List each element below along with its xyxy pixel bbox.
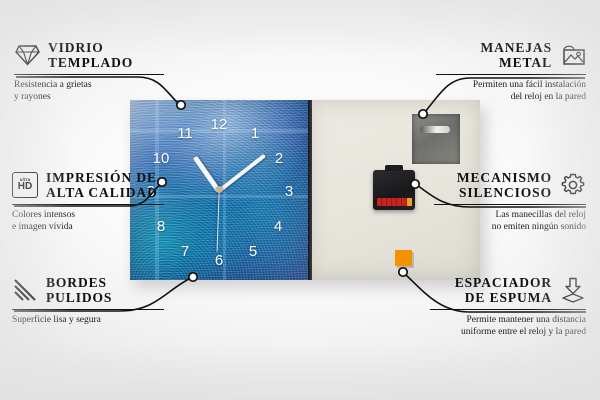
clock-numeral-6: 6 [210,252,228,270]
feature-title: BORDES PULIDOS [46,275,112,305]
battery-terminal [407,198,412,206]
feature-header: BORDES PULIDOS [12,275,164,305]
ultra-hd-icon: ultra HD [12,172,38,198]
feature-title: MECANISMO SILENCIOSO [457,170,552,200]
feature-subtitle-line1: Superficie lisa y segura [12,315,101,325]
feature-mecanismo-silencioso[interactable]: MECANISMO SILENCIOSO Las manecillas del … [434,170,586,233]
feature-title: IMPRESIÓN DE ALTA CALIDAD [46,170,158,200]
feature-title-line2: DE ESPUMA [465,290,552,305]
feature-title-line2: PULIDOS [46,290,112,305]
feature-title: VIDRIO TEMPLADO [48,40,133,70]
mechanism-tab [385,165,403,171]
feature-title: ESPACIADOR DE ESPUMA [455,275,552,305]
clock-numeral-7: 7 [176,243,194,261]
feature-subtitle-line2: y rayones [14,92,51,102]
feature-subtitle: Resistencia a grietas y rayones [14,79,164,103]
clock-numeral-11: 11 [176,125,194,143]
ultra-hd-icon-main-text: HD [18,182,32,192]
feature-rule [14,74,164,75]
feature-rule [436,74,586,75]
diamond-icon [14,42,40,68]
feature-title-line1: MECANISMO [457,170,552,185]
feature-title-line1: IMPRESIÓN DE [46,170,157,185]
clock-numeral-3: 3 [280,183,298,201]
feature-subtitle-line2: no emiten ningún sonido [492,222,586,232]
battery-compartment [377,198,411,206]
product-image: 12 1 2 3 4 5 6 7 8 9 10 11 [130,100,480,280]
feature-espaciador-espuma[interactable]: ESPACIADOR DE ESPUMA Permite mantener un… [430,275,586,338]
feature-subtitle-line2: e imagen vívida [12,222,73,232]
feature-title-line1: MANEJAS [480,40,552,55]
clock-numeral-12: 12 [210,116,228,134]
bracket-slot [420,126,450,133]
feature-subtitle: Permiten una fácil instalación del reloj… [436,79,586,103]
feature-header: ESPACIADOR DE ESPUMA [430,275,586,305]
clock-numeral-1: 1 [246,125,264,143]
feature-header: MECANISMO SILENCIOSO [434,170,586,200]
feature-subtitle-line2: del reloj en la pared [511,92,586,102]
arrow-down-layers-icon [560,277,586,303]
silent-quartz-mechanism [373,170,415,210]
glass-edge [308,100,312,280]
feature-bordes-pulidos[interactable]: BORDES PULIDOS Superficie lisa y segura [12,275,164,326]
clock-numeral-2: 2 [270,150,288,168]
clock-numeral-5: 5 [244,243,262,261]
feature-manejas-metal[interactable]: MANEJAS METAL Permiten una fácil instala… [436,40,586,103]
feature-title-line2: ALTA CALIDAD [46,185,158,200]
gear-icon [560,172,586,198]
feature-subtitle: Superficie lisa y segura [12,314,164,326]
feature-subtitle: Permite mantener una distancia uniforme … [430,314,586,338]
feature-header: VIDRIO TEMPLADO [14,40,164,70]
diagonal-lines-icon [12,277,38,303]
feature-header: MANEJAS METAL [436,40,586,70]
feature-title-line1: VIDRIO [48,40,104,55]
feature-title-line1: BORDES [46,275,107,290]
feature-subtitle: Las manecillas del reloj no emiten ningú… [434,209,586,233]
clock-numeral-4: 4 [269,218,287,236]
metal-hanging-bracket [412,114,460,164]
feature-vidrio-templado[interactable]: VIDRIO TEMPLADO Resistencia a grietas y … [14,40,164,103]
feature-title-line2: SILENCIOSO [459,185,552,200]
feature-rule [12,309,164,310]
infographic-canvas: 12 1 2 3 4 5 6 7 8 9 10 11 [0,0,600,400]
feature-subtitle-line1: Las manecillas del reloj [496,210,586,220]
feature-rule [12,204,164,205]
foam-spacer [395,250,412,266]
clock-center-pin [216,186,223,193]
feature-subtitle-line1: Colores intensos [12,210,75,220]
feature-subtitle-line1: Resistencia a grietas [14,80,92,90]
feature-subtitle-line1: Permite mantener una distancia [467,315,587,325]
clock-numeral-10: 10 [152,150,170,168]
feature-subtitle-line2: uniforme entre el reloj y la pared [461,327,586,337]
feature-title-line1: ESPACIADOR [455,275,552,290]
feature-rule [430,309,586,310]
feature-title: MANEJAS METAL [480,40,552,70]
feature-impresion-alta-calidad[interactable]: ultra HD IMPRESIÓN DE ALTA CALIDAD Color… [12,170,164,233]
feature-subtitle: Colores intensos e imagen vívida [12,209,164,233]
feature-title-line2: TEMPLADO [48,55,133,70]
feature-title-line2: METAL [499,55,552,70]
feature-rule [434,204,586,205]
picture-hanger-icon [560,42,586,68]
feature-subtitle-line1: Permiten una fácil instalación [473,80,586,90]
feature-header: ultra HD IMPRESIÓN DE ALTA CALIDAD [12,170,164,200]
